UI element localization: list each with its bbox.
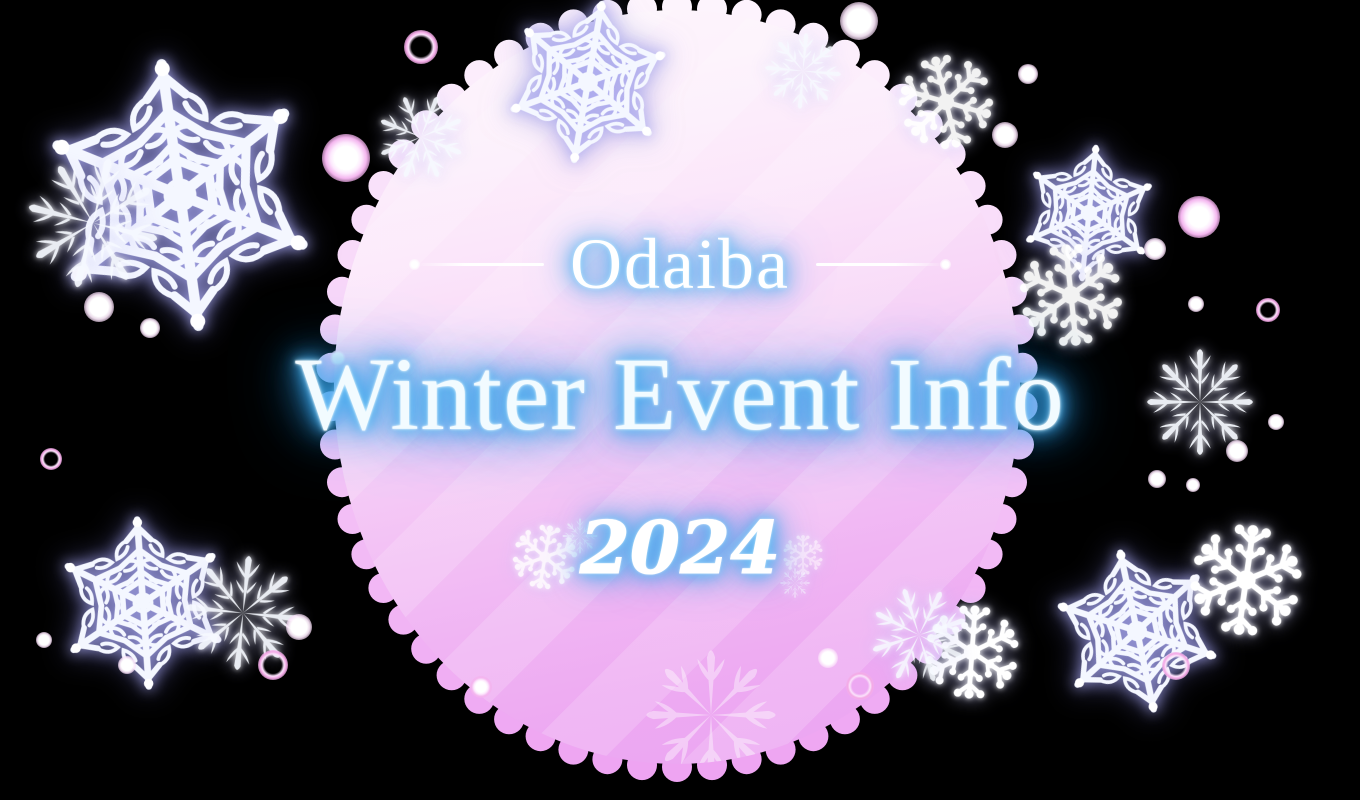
snow-dot	[1148, 470, 1166, 488]
snow-dot	[36, 632, 52, 648]
snow-dot	[330, 350, 346, 366]
snow-dot	[84, 292, 114, 322]
snowflake-crystal-top-center-r-icon	[881, 37, 1012, 168]
snowflake-crystal-bottom-right-icon	[1174, 508, 1319, 653]
snow-dot	[1268, 414, 1284, 430]
snow-dot	[1178, 196, 1220, 238]
snow-dot	[1144, 238, 1166, 260]
snow-dot	[1018, 64, 1038, 84]
snowflake-spiky-bottom-left-icon	[172, 542, 315, 685]
snow-dot	[1162, 652, 1190, 680]
decoration-layer	[0, 0, 1360, 800]
snow-dot	[404, 30, 438, 64]
snowflake-crystal-right-upper-icon	[1006, 230, 1136, 360]
snow-dot	[846, 672, 874, 700]
snow-dot	[1186, 478, 1200, 492]
snow-dot	[818, 648, 838, 668]
snow-dot	[840, 2, 878, 40]
snowflake-ornate-top-center-icon	[484, 0, 693, 186]
snowflake-micro-inner-right-2-icon	[778, 566, 812, 600]
snow-dot	[1256, 298, 1280, 322]
snow-dot	[322, 134, 370, 182]
winter-event-banner: Odaiba Winter Event Info 2024	[0, 0, 1360, 800]
snow-dot	[40, 448, 62, 470]
snow-dot	[140, 318, 160, 338]
snow-dot	[1226, 440, 1248, 462]
snow-dot	[992, 122, 1018, 148]
snowflake-micro-inner-left-icon	[560, 516, 600, 556]
snow-dot	[470, 676, 492, 698]
snow-dot	[118, 656, 136, 674]
snow-dot	[1188, 296, 1204, 312]
snowflake-spiky-top-mid-left-icon	[357, 73, 485, 201]
snowflake-spiky-top-right-icon	[756, 24, 849, 117]
snow-dot	[258, 650, 288, 680]
snow-dot	[286, 614, 312, 640]
